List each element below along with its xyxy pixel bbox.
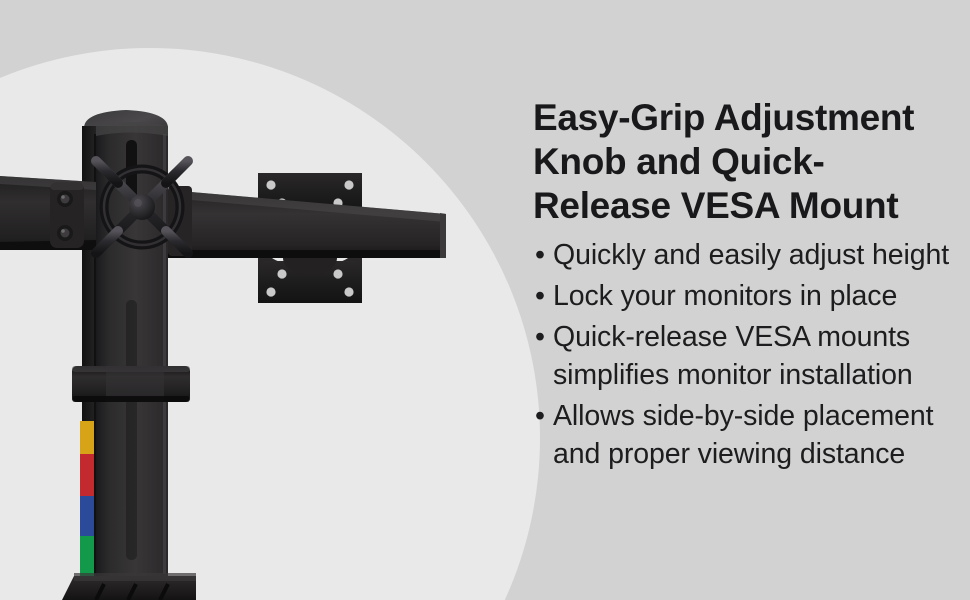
cable-management-clip (72, 366, 190, 402)
headline: Easy-Grip Adjustment Knob and Quick-Rele… (533, 96, 953, 228)
bullet-text: Quickly and easily adjust height (553, 239, 949, 271)
bullet-text: Allows side-by-side placement and proper… (553, 400, 933, 470)
list-item: • Allows side-by-side placement and prop… (533, 397, 953, 473)
product-illustration (0, 0, 500, 600)
product-feature-banner: Easy-Grip Adjustment Knob and Quick-Rele… (0, 0, 970, 600)
text-panel: Easy-Grip Adjustment Knob and Quick-Rele… (533, 96, 953, 476)
bullet-icon: • (535, 236, 545, 274)
bullet-icon: • (535, 318, 545, 356)
list-item: • Quick-release VESA mounts simplifies m… (533, 318, 953, 394)
color-stripe-label (80, 421, 94, 576)
bullet-text: Lock your monitors in place (553, 280, 897, 312)
vertical-pole (82, 110, 168, 576)
bullet-text: Quick-release VESA mounts simplifies mon… (553, 321, 913, 391)
bracket-plate (50, 182, 84, 248)
list-item: • Lock your monitors in place (533, 277, 953, 315)
feature-bullet-list: • Quickly and easily adjust height • Loc… (533, 236, 953, 473)
bullet-icon: • (535, 277, 545, 315)
base-foot (62, 573, 196, 600)
bullet-icon: • (535, 397, 545, 435)
list-item: • Quickly and easily adjust height (533, 236, 953, 274)
